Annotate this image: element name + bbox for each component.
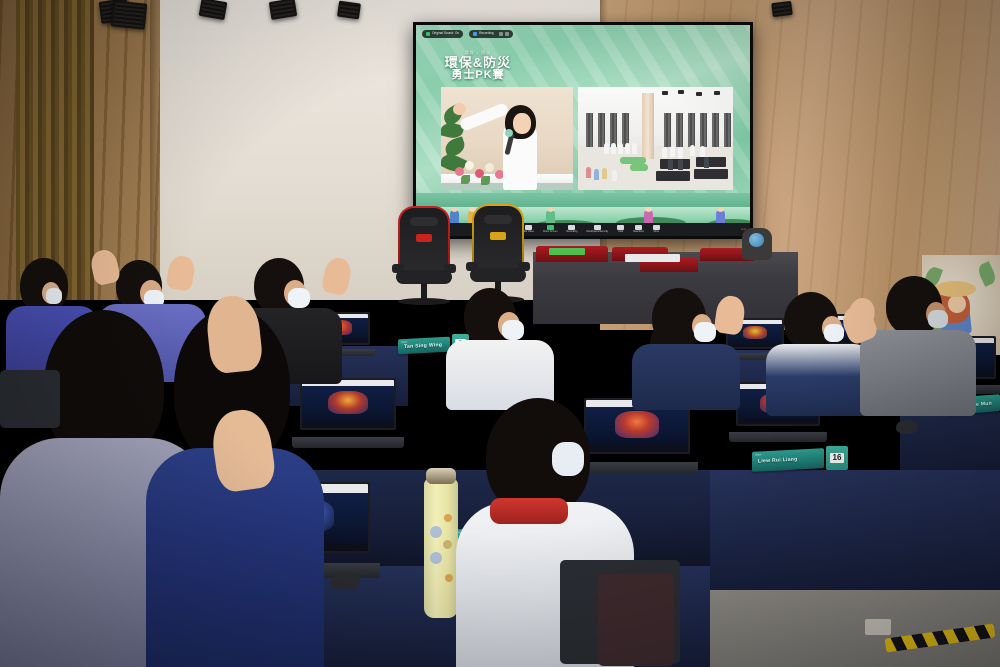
raised-hand xyxy=(165,254,197,292)
globe-mascot xyxy=(742,228,772,260)
zoom-record-button[interactable]: Recording xyxy=(567,225,578,233)
recording-indicator[interactable]: Recording xyxy=(469,30,513,38)
event-title: 環保 • 防災 環保&防災 勇士PK賽 xyxy=(430,51,526,81)
name-placard: Team Tan Sing Wing xyxy=(398,337,450,355)
zoom-chat-label: Chat xyxy=(618,231,623,233)
window-controls[interactable] xyxy=(499,32,509,36)
red-scarf xyxy=(490,498,568,524)
presenter-face xyxy=(513,113,531,134)
number-card-value: 16 xyxy=(830,453,845,463)
raised-hand xyxy=(713,294,746,336)
ceiling-speaker-icon xyxy=(337,1,361,20)
hall-floor xyxy=(578,146,733,190)
cable-anchor xyxy=(865,619,891,635)
bottle-cap xyxy=(426,468,456,484)
name-placard: Team Liew Rui Liang xyxy=(752,448,824,472)
sound-icon xyxy=(426,32,430,36)
placard-team-label: Team xyxy=(401,341,407,344)
hall-pillar xyxy=(642,93,654,159)
ceiling-speaker-icon xyxy=(111,0,148,29)
attendee-ponytail-center xyxy=(632,288,744,408)
conference-hall-photo: Original Sound: On Recording 環保 • 防災 環保&… xyxy=(0,0,1000,667)
attendee-white-shirt xyxy=(446,288,556,408)
water-bottle xyxy=(424,478,458,618)
green-barrier xyxy=(620,157,646,164)
zoom-reactions-label: Reactions xyxy=(633,231,644,233)
recording-label: Recording xyxy=(479,32,494,35)
zoom-reactions-button[interactable]: Reactions xyxy=(633,225,644,233)
remote-hall-video-panel xyxy=(578,87,733,190)
zoom-participants-label: Participants/Security xyxy=(586,231,608,233)
projection-screen: Original Sound: On Recording 環保 • 防災 環保&… xyxy=(413,22,753,239)
seat-back xyxy=(598,574,674,666)
zoom-top-toolbar: Original Sound: On Recording xyxy=(422,30,513,38)
event-title-line2: 勇士PK賽 xyxy=(430,70,526,82)
seat-back xyxy=(0,370,60,428)
computer-mouse xyxy=(896,420,918,434)
placard-team-label: Team xyxy=(755,453,761,456)
speaker-video-panel xyxy=(441,87,573,190)
zoom-participants-button[interactable]: Participants/Security xyxy=(586,225,608,233)
slide-divider xyxy=(416,193,750,207)
placard-name: Liew Rui Liang xyxy=(752,457,797,465)
record-icon xyxy=(473,32,477,36)
original-sound-indicator[interactable]: Original Sound: On xyxy=(422,30,463,38)
zoom-share-screen-button[interactable]: Share Screen xyxy=(543,225,558,233)
zoom-chat-button[interactable]: Chat xyxy=(617,225,624,233)
stage-curtain xyxy=(16,0,94,300)
zoom-share-label: Share Screen xyxy=(543,231,558,233)
ceiling-speaker-icon xyxy=(771,1,793,17)
attendee-midright-handup xyxy=(168,360,338,560)
raised-hand xyxy=(89,248,122,287)
attendee-grey-shirt-right xyxy=(860,276,980,416)
zoom-more-button[interactable]: More xyxy=(653,225,660,233)
green-object xyxy=(549,248,585,255)
zoom-more-label: More xyxy=(654,231,659,233)
raised-hand xyxy=(209,406,278,493)
event-title-line1: 環保&防災 xyxy=(430,56,526,70)
white-tray xyxy=(625,254,680,262)
event-title-kicker: 環保 • 防災 xyxy=(430,51,526,55)
zoom-record-label: Recording xyxy=(567,231,578,233)
microphone-head xyxy=(505,129,513,137)
number-card: 16 xyxy=(826,446,848,470)
computer-mouse xyxy=(330,572,360,590)
original-sound-label: Original Sound: On xyxy=(432,32,459,35)
globe-icon xyxy=(749,233,764,247)
desk-row-mid-right xyxy=(700,470,1000,590)
